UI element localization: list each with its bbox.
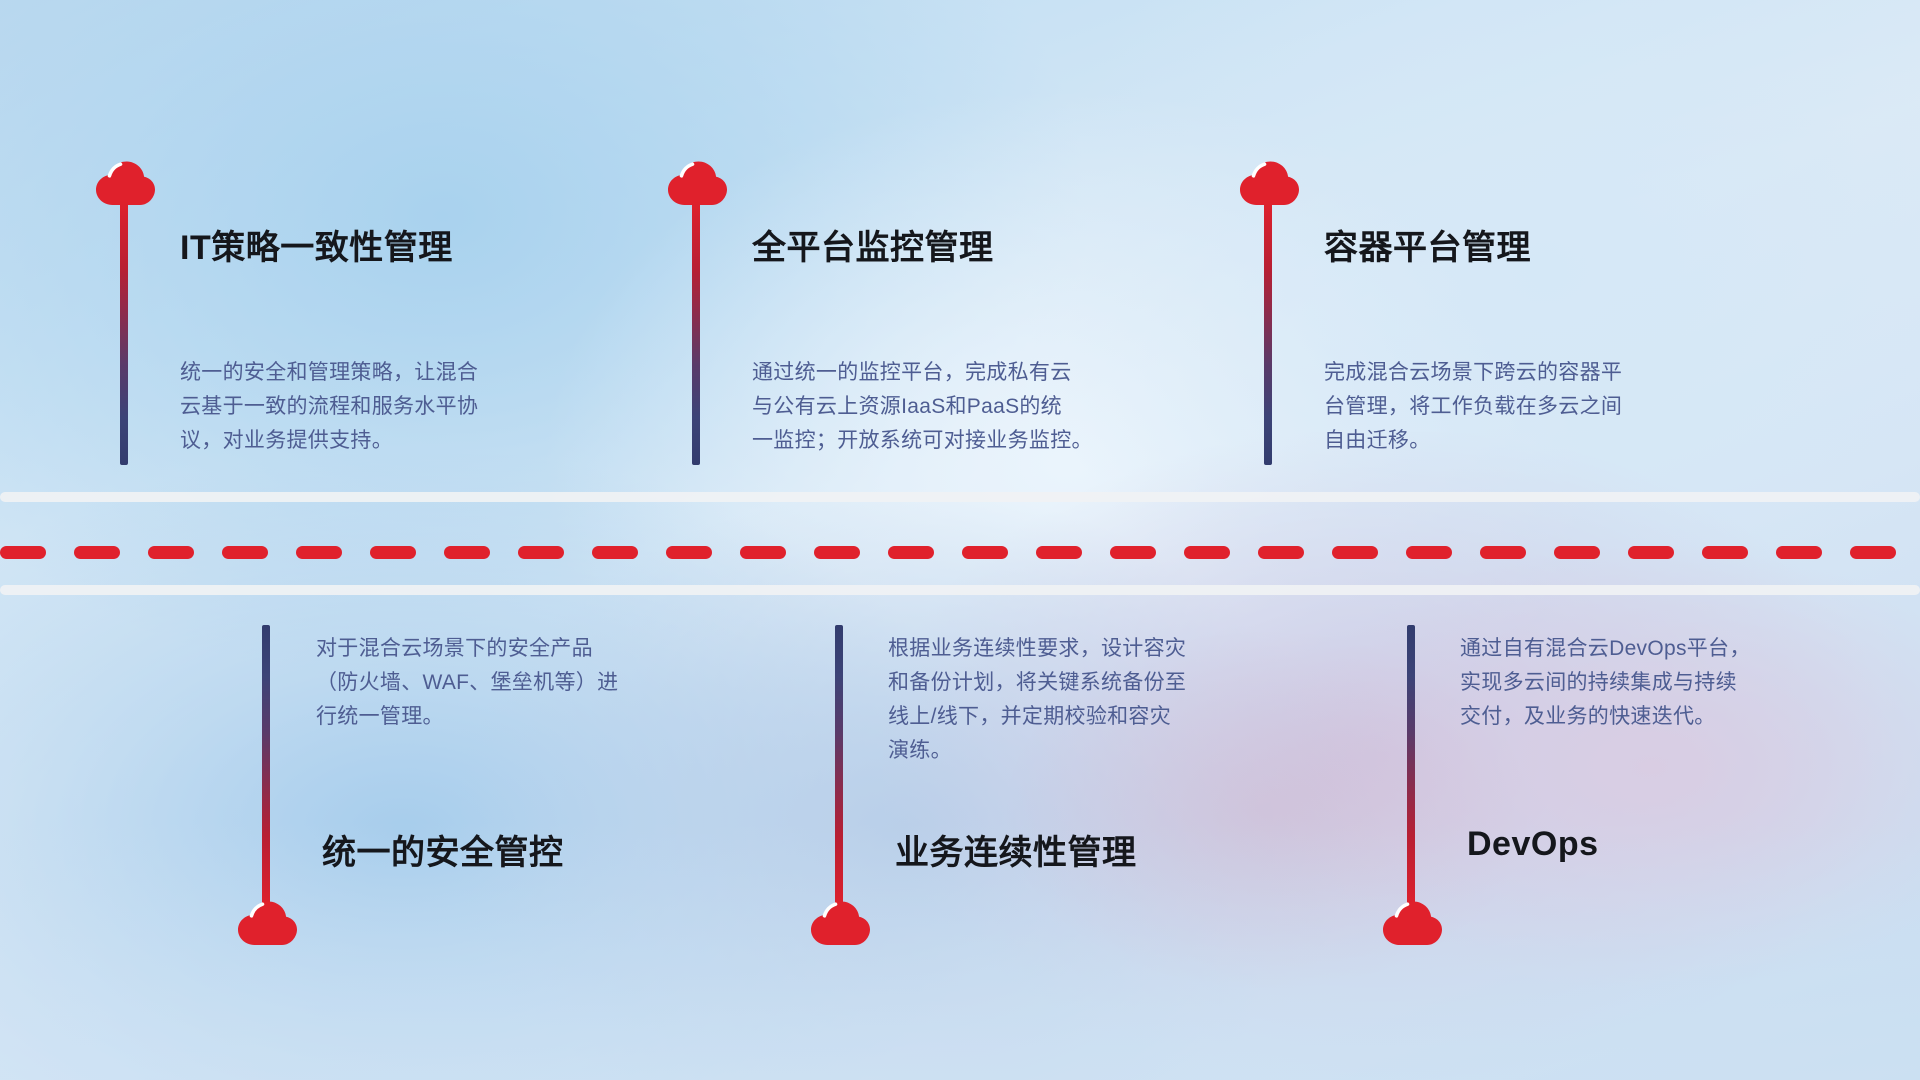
- cloud-icon: [1381, 900, 1443, 946]
- feature-paragraph: 通过自有混合云DevOps平台， 实现多云间的持续集成与持续 交付，及业务的快速…: [1460, 632, 1910, 734]
- feature-column-devops: 通过自有混合云DevOps平台， 实现多云间的持续集成与持续 交付，及业务的快速…: [0, 0, 1920, 1080]
- feature-heading: DevOps: [1467, 825, 1599, 864]
- connector-stem: [1407, 625, 1415, 910]
